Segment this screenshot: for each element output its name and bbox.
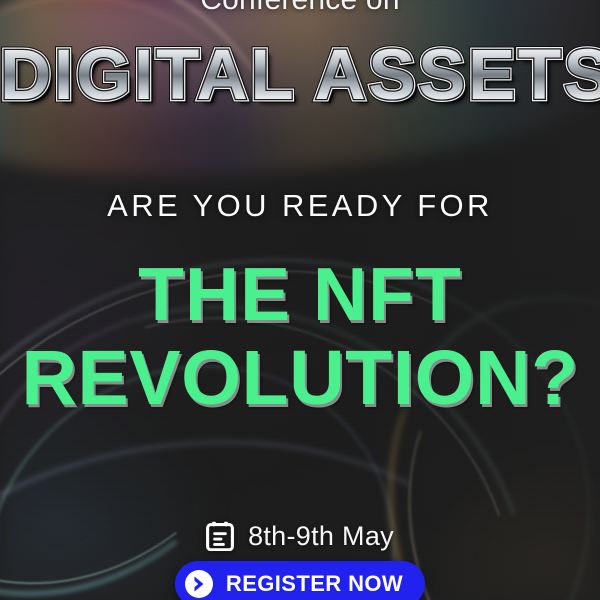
subheading-text: ARE YOU READY FOR bbox=[0, 190, 600, 221]
poster-title-chrome: DIGITAL ASSETS DIGITAL ASSETS DIGITAL AS… bbox=[0, 40, 600, 112]
headline-line-2: REVOLUTION? bbox=[0, 336, 600, 420]
poster-content: Conference on DIGITAL ASSETS DIGITAL ASS… bbox=[0, 0, 600, 600]
arrow-right-circle-icon bbox=[184, 569, 214, 599]
poster-title: DIGITAL ASSETS DIGITAL ASSETS DIGITAL AS… bbox=[0, 40, 600, 112]
poster-canvas: Conference on DIGITAL ASSETS DIGITAL ASS… bbox=[0, 0, 600, 600]
calendar-icon bbox=[206, 521, 234, 551]
headline-line-1: THE NFT bbox=[0, 252, 600, 336]
cta-row: REGISTER NOW bbox=[0, 561, 600, 600]
register-now-label: REGISTER NOW bbox=[226, 573, 403, 595]
kicker-text: Conference on bbox=[0, 0, 600, 15]
headline-block: THE NFT REVOLUTION? bbox=[0, 252, 600, 420]
event-date-text: 8th-9th May bbox=[248, 523, 394, 550]
poster-title-face: DIGITAL ASSETS bbox=[0, 36, 600, 115]
register-now-button[interactable]: REGISTER NOW bbox=[175, 561, 425, 600]
event-date-row: 8th-9th May bbox=[0, 521, 600, 551]
